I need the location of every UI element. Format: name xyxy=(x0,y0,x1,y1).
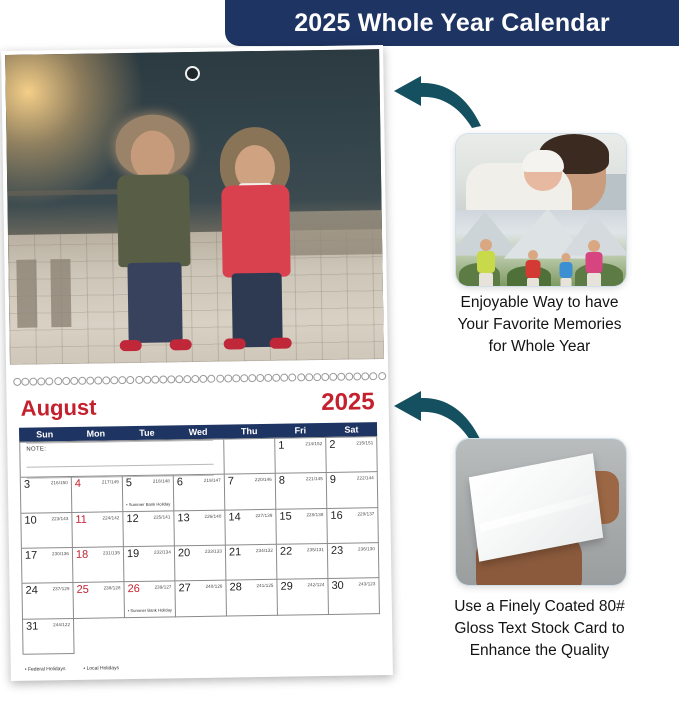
day-number: 3 xyxy=(24,479,30,491)
note-cell[interactable]: NOTE: xyxy=(20,440,225,479)
hiker-mother-top xyxy=(586,252,603,273)
day-of-year: 228/138 xyxy=(306,512,323,517)
hiker-boy-shirt xyxy=(525,260,540,278)
calendar-day-27[interactable]: 27240/126 xyxy=(175,581,227,617)
baby-cap xyxy=(522,150,564,172)
day-of-year: 218/148 xyxy=(153,479,170,484)
weekday-header-fri: Fri xyxy=(275,423,326,438)
hiker-child-boy xyxy=(521,250,545,282)
perforation-hole xyxy=(62,377,70,385)
day-number: 22 xyxy=(280,546,292,558)
year-label: 2025 xyxy=(321,388,375,417)
perforation-hole xyxy=(329,373,337,381)
day-number: 13 xyxy=(177,512,189,524)
calendar-product-image[interactable]: August 2025 SunMonTueWedThuFriSat NOTE:1… xyxy=(1,45,393,681)
header-banner: 2025 Whole Year Calendar xyxy=(225,0,679,46)
perforation-hole xyxy=(13,378,21,386)
day-number: 12 xyxy=(126,513,138,525)
perforation-hole xyxy=(70,377,78,385)
calendar-day-7[interactable]: 7220/146 xyxy=(225,474,277,510)
calendar-day-22[interactable]: 22235/131 xyxy=(277,544,329,580)
perforation-hole xyxy=(216,375,224,383)
father-and-baby-photo xyxy=(456,134,626,210)
perforation-hole xyxy=(46,377,54,385)
family-hiking-photo xyxy=(456,210,626,286)
perforation-hole xyxy=(38,377,46,385)
calendar-day-8[interactable]: 8221/145 xyxy=(276,473,328,509)
month-name: August xyxy=(20,395,96,422)
perforation-hole xyxy=(378,372,386,380)
day-of-year: 215/151 xyxy=(356,440,373,445)
calendar-day-19[interactable]: 19232/134 xyxy=(124,546,176,582)
day-number: 26 xyxy=(127,583,139,595)
weekday-header-mon: Mon xyxy=(70,426,121,441)
perforation-hole xyxy=(224,374,232,382)
child-left-shoe-right xyxy=(170,339,192,350)
day-number: 20 xyxy=(178,547,190,559)
calendar-day-1[interactable]: 1214/152 xyxy=(275,438,327,474)
day-of-year: 223/143 xyxy=(51,516,68,521)
calendar-day-13[interactable]: 13226/140 xyxy=(174,510,226,546)
note-label: NOTE: xyxy=(26,446,46,452)
calendar-day-11[interactable]: 11224/142 xyxy=(72,512,124,548)
perforation-hole xyxy=(54,377,62,385)
day-number: 2 xyxy=(329,439,335,451)
perforation-hole xyxy=(175,375,183,383)
callout-arrow-top xyxy=(388,72,484,128)
day-of-year: 237/129 xyxy=(53,586,70,591)
day-number: 11 xyxy=(75,513,87,525)
day-number: 6 xyxy=(177,477,183,489)
day-number: 15 xyxy=(279,510,291,522)
day-number: 24 xyxy=(25,585,37,597)
legend-item: • Local Holidays xyxy=(83,665,119,672)
day-of-year: 235/131 xyxy=(307,547,324,552)
perforation-hole xyxy=(94,376,102,384)
day-number: 1 xyxy=(278,440,284,452)
gloss-paper-sheet xyxy=(469,454,603,562)
banner-title: 2025 Whole Year Calendar xyxy=(294,9,610,38)
calendar-day-21[interactable]: 21234/132 xyxy=(226,545,278,581)
perforation-hole xyxy=(21,378,29,386)
weekday-header-wed: Wed xyxy=(172,425,223,440)
calendar-day-30[interactable]: 30243/123 xyxy=(328,578,380,614)
perforation-hole xyxy=(345,373,353,381)
perforation-hole xyxy=(361,372,369,380)
month-header: August 2025 xyxy=(10,390,384,424)
perforation-hole xyxy=(102,376,110,384)
day-number: 18 xyxy=(76,549,88,561)
holiday-legend: • Federal Holidays• Local Holidays xyxy=(25,665,119,672)
hiker-boy-shorts xyxy=(527,278,539,286)
calendar-day-28[interactable]: 28241/125 xyxy=(226,580,278,616)
calendar-day-29[interactable]: 29242/124 xyxy=(277,579,329,615)
calendar-day-24[interactable]: 24237/129 xyxy=(22,583,74,619)
day-of-year: 233/133 xyxy=(205,549,222,554)
day-of-year: 226/140 xyxy=(204,513,221,518)
calendar-month-sheet: August 2025 SunMonTueWedThuFriSat NOTE:1… xyxy=(10,382,388,677)
child-left-shoe-left xyxy=(120,339,142,350)
weekday-header-tue: Tue xyxy=(121,425,172,440)
photo-post-a xyxy=(16,259,37,327)
child-right-shoe-left xyxy=(224,338,246,349)
day-number: 9 xyxy=(330,474,336,486)
calendar-day-25[interactable]: 25238/128 xyxy=(73,582,125,618)
day-number: 16 xyxy=(330,509,342,521)
perforation-hole xyxy=(256,374,264,382)
child-right-jeans xyxy=(232,272,283,347)
perforation-hole xyxy=(305,373,313,381)
photo-child-right xyxy=(206,126,305,349)
day-number: 31 xyxy=(26,620,38,632)
perforation-hole xyxy=(272,374,280,382)
day-number: 21 xyxy=(229,546,241,558)
calendar-day-16[interactable]: 16229/137 xyxy=(327,508,379,544)
perforation-hole xyxy=(232,374,240,382)
hiker-father-shorts xyxy=(479,273,493,286)
hiker-girl-shirt xyxy=(559,262,572,278)
calendar-grid[interactable]: NOTE:1214/1522215/1513216/1504217/149521… xyxy=(19,436,380,655)
finger-3 xyxy=(541,552,553,584)
calendar-day-6[interactable]: 6219/147 xyxy=(174,475,226,511)
calendar-day-17[interactable]: 17230/136 xyxy=(22,548,74,584)
day-number: 5 xyxy=(126,477,132,489)
perforation-hole xyxy=(240,374,248,382)
calendar-day-31[interactable]: 31244/122 xyxy=(23,619,75,655)
hiker-father-head xyxy=(480,239,492,251)
feature-card-paper-stock xyxy=(455,438,627,586)
perforation-hole xyxy=(29,378,37,386)
day-of-year: 222/144 xyxy=(357,476,374,481)
calendar-day-12[interactable]: 12225/141 xyxy=(123,511,175,547)
hiker-child-girl xyxy=(555,253,577,282)
day-number: 19 xyxy=(127,548,139,560)
day-of-year: 217/149 xyxy=(102,480,119,485)
day-of-year: 236/130 xyxy=(358,546,375,551)
weekday-header-sat: Sat xyxy=(326,422,377,437)
day-of-year: 241/125 xyxy=(257,583,274,588)
calendar-day-5[interactable]: 5218/148• Summer Bank Holiday xyxy=(123,476,175,512)
note-write-line[interactable] xyxy=(26,440,213,444)
perforation-hole xyxy=(86,377,94,385)
day-of-year: 227/139 xyxy=(255,512,272,517)
day-of-year: 229/137 xyxy=(357,511,374,516)
calendar-day-20[interactable]: 20233/133 xyxy=(175,546,227,582)
child-left-jeans xyxy=(127,262,182,343)
child-left-jacket xyxy=(117,174,190,267)
hand-holding-gloss-paper-photo xyxy=(456,439,626,585)
caption-line: Enjoyable Way to have xyxy=(398,292,679,314)
feature-caption-paper-stock: Use a Finely Coated 80#Gloss Text Stock … xyxy=(398,596,679,662)
calendar-day-4[interactable]: 4217/149 xyxy=(72,477,124,513)
day-number: 27 xyxy=(178,582,190,594)
day-of-year: 220/146 xyxy=(255,477,272,482)
child-right-shoe-right xyxy=(270,337,292,348)
calendar-day-14[interactable]: 14227/139 xyxy=(225,509,277,545)
caption-line: Use a Finely Coated 80# xyxy=(398,596,679,618)
perforation-hole xyxy=(353,372,361,380)
finger-2 xyxy=(514,549,526,585)
caption-line: Your Favorite Memories xyxy=(398,314,679,336)
hiker-girl-head xyxy=(561,253,570,262)
calendar-day-9[interactable]: 9222/144 xyxy=(327,473,379,509)
calendar-day-3[interactable]: 3216/150 xyxy=(21,477,73,513)
calendar-day-2[interactable]: 2215/151 xyxy=(326,437,378,473)
day-number: 28 xyxy=(229,582,241,594)
perforation-hole xyxy=(151,376,159,384)
perforation-hole xyxy=(297,373,305,381)
feature-card-memories xyxy=(455,133,627,287)
perforation-hole xyxy=(370,372,378,380)
day-number: 7 xyxy=(228,476,234,488)
perforation-hole xyxy=(199,375,207,383)
day-of-year: 225/141 xyxy=(153,514,170,519)
day-of-year: 244/122 xyxy=(53,622,70,627)
feature-caption-memories: Enjoyable Way to haveYour Favorite Memor… xyxy=(398,292,679,358)
perforation-hole xyxy=(183,375,191,383)
child-right-coat xyxy=(221,184,290,277)
calendar-day-18[interactable]: 18231/135 xyxy=(73,547,125,583)
calendar-cover-photo xyxy=(5,49,384,365)
day-of-year: 242/124 xyxy=(307,582,324,587)
holiday-event-label: • Summer Bank Holiday xyxy=(127,607,173,613)
day-number: 8 xyxy=(279,475,285,487)
day-of-year: 234/132 xyxy=(256,548,273,553)
day-of-year: 239/127 xyxy=(155,585,172,590)
perforation-hole xyxy=(313,373,321,381)
day-of-year: 230/136 xyxy=(52,551,69,556)
perforation-hole xyxy=(208,375,216,383)
day-of-year: 231/135 xyxy=(103,550,120,555)
perforation-hole xyxy=(159,375,167,383)
calendar-day-15[interactable]: 15228/138 xyxy=(276,509,328,545)
perforation-hole xyxy=(264,374,272,382)
day-of-year: 243/123 xyxy=(358,582,375,587)
day-of-year: 221/145 xyxy=(306,476,323,481)
perforation-hole xyxy=(248,374,256,382)
caption-line: Gloss Text Stock Card to xyxy=(398,618,679,640)
day-number: 30 xyxy=(331,580,343,592)
hiker-mother xyxy=(579,240,609,281)
perforation-hole xyxy=(191,375,199,383)
weekday-header-sun: Sun xyxy=(19,427,70,442)
day-number: 23 xyxy=(331,545,343,557)
day-of-year: 214/152 xyxy=(305,441,322,446)
calendar-day-26[interactable]: 26239/127• Summer Bank Holiday xyxy=(124,582,176,618)
day-number: 17 xyxy=(25,550,37,562)
hiker-father-shirt xyxy=(477,251,495,273)
perforation-hole xyxy=(280,374,288,382)
perforation-hole xyxy=(143,376,151,384)
day-of-year: 240/126 xyxy=(206,584,223,589)
day-of-year: 216/150 xyxy=(51,480,68,485)
day-of-year: 238/128 xyxy=(104,586,121,591)
calendar-day-empty[interactable] xyxy=(224,439,276,475)
perforation-hole xyxy=(135,376,143,384)
hiker-mother-head xyxy=(588,240,600,252)
calendar-day-23[interactable]: 23236/130 xyxy=(328,543,380,579)
day-number: 25 xyxy=(76,584,88,596)
perforation-hole xyxy=(78,377,86,385)
callout-arrow-bottom xyxy=(388,387,484,443)
day-number: 14 xyxy=(228,511,240,523)
perforation-hole xyxy=(167,375,175,383)
perforation-hole xyxy=(118,376,126,384)
day-of-year: 219/147 xyxy=(204,478,221,483)
day-of-year: 224/142 xyxy=(102,515,119,520)
note-write-line[interactable] xyxy=(27,464,214,468)
photo-post-b xyxy=(50,259,71,327)
caption-line: Enhance the Quality xyxy=(398,640,679,662)
perforation-hole xyxy=(110,376,118,384)
day-number: 10 xyxy=(24,514,36,526)
calendar-day-10[interactable]: 10223/143 xyxy=(21,513,73,549)
caption-line: for Whole Year xyxy=(398,336,679,358)
photo-child-left xyxy=(104,114,204,351)
day-number: 4 xyxy=(75,478,81,490)
day-number: 29 xyxy=(280,581,292,593)
holiday-event-label: • Summer Bank Holiday xyxy=(125,501,171,507)
hiker-boy-head xyxy=(528,250,538,260)
weekday-header-thu: Thu xyxy=(224,424,275,439)
perforation-hole xyxy=(321,373,329,381)
day-of-year: 232/134 xyxy=(154,549,171,554)
perforation-hole xyxy=(337,373,345,381)
hiker-mother-shorts xyxy=(587,273,601,286)
hiker-father xyxy=(470,239,502,282)
hiker-girl-shorts xyxy=(560,278,571,286)
perforation-hole xyxy=(127,376,135,384)
perforation-hole xyxy=(289,373,297,381)
legend-item: • Federal Holidays xyxy=(25,666,66,673)
